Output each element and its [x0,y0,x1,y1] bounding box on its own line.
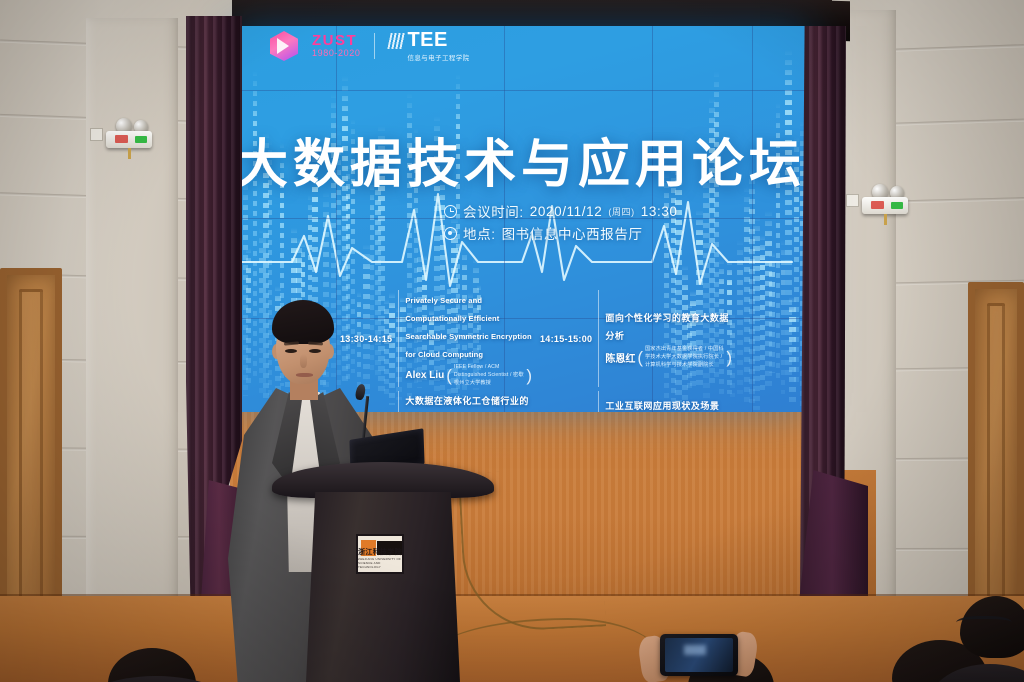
emergency-light-body [106,131,152,148]
zust-logo-icon [270,31,298,61]
slot-speaker-name: 陈恩红 [605,350,635,365]
tee-name: TEE [407,30,469,50]
wire [884,214,887,225]
paren-close: ) [526,369,532,383]
nose [300,354,307,368]
equalizer-bar [737,240,743,394]
slot-speaker-affiliation: 国家杰出青年基金获得者 / 中国科学技术大学大数据学院执行院长 / 计算机科学与… [645,346,724,369]
slot-time: 14:15-15:00 [540,334,592,344]
clock-icon [444,205,457,218]
equalizer-bar [769,252,775,373]
meeting-time-label: 会议时间: [463,201,524,221]
slot-speaker-row: 陈恩红 ( 国家杰出青年基金获得者 / 中国科学技术大学大数据学院执行院长 / … [605,346,732,369]
smartphone-recording[interactable] [660,634,738,676]
label-icon [115,135,128,143]
mouth [296,373,313,377]
slot-topic: 工业互联网应用现状及场景 [605,401,719,411]
light-switch-icon[interactable] [90,128,103,141]
meeting-weekday: (周四) [608,205,634,218]
tee-subtitle: 信息与电子工程学院 [407,52,469,62]
equalizer-bar [753,216,760,410]
zust-name: ZUST [312,33,360,49]
meeting-time-line: 会议时间: 2020/11/12 (周四) 13:30 [444,201,678,221]
slot-divider [398,391,399,412]
schedule-slot: 15:30-16:00 工业互联网应用现状及场景 颜明茂 ( 杭州海康威视数字技… [536,389,736,412]
tee-logo: TEE 信息与电子工程学院 [389,30,469,62]
meeting-date-value: 2020/11/12 [530,204,603,219]
paren-open: ( [637,351,643,365]
phone-viewfinder [665,638,733,672]
institution-name-cn: 浙江科技学院 [358,547,402,557]
podium-body [306,492,460,682]
led-wall-logos: ZUST 1980-2020 TEE 信息与电子工程学院 [270,30,470,62]
status-led-icon [135,136,147,143]
meeting-location-value: 图书信息中心西报告厅 [502,223,643,243]
slot-divider [398,290,399,387]
door-panel [19,289,43,639]
meeting-location-label: 地点: [463,223,496,243]
meeting-time-value: 13:30 [641,204,678,219]
logo-divider [374,33,375,59]
slot-divider [598,290,599,387]
status-led-icon [891,202,903,209]
zust-years: 1980-2020 [312,49,360,58]
podium-institution-sign: 浙江科技学院 ZHEJIANG UNIVERSITY OF SCIENCE AN… [356,534,404,574]
eye [285,349,297,353]
door-panel [987,303,1005,635]
podium: 浙江科技学院 ZHEJIANG UNIVERSITY OF SCIENCE AN… [272,462,494,682]
presenter-hair [272,300,334,344]
emergency-light-body [862,197,908,214]
schedule-slot: 14:15-15:00 面向个性化学习的教育大数据分析 陈恩红 ( 国家杰出青年… [536,288,736,389]
slot-topic: Privately Secure and Computationally Eff… [405,296,531,359]
conference-hall-photo: ZUST 1980-2020 TEE 信息与电子工程学院 大数据技术与应用论坛 … [0,0,1024,682]
paren-close: ) [726,351,732,365]
slot-divider [598,391,599,412]
eye [309,349,321,353]
wire [128,148,131,159]
label-icon [871,201,884,209]
slot-topic: 面向个性化学习的教育大数据分析 [605,313,729,341]
slot-speaker-affiliation: IEEE Fellow / ACM Distinguished Scientis… [454,364,524,387]
paren-open: ( [446,369,452,383]
location-pin-icon [444,227,457,240]
forum-title: 大数据技术与应用论坛 [232,122,810,197]
institution-name-en: ZHEJIANG UNIVERSITY OF SCIENCE AND TECHN… [358,557,402,569]
meeting-location-line: 地点: 图书信息中心西报告厅 [444,223,643,243]
session-schedule: 13:30-14:15 Privately Secure and Computa… [336,288,736,400]
slot-topic: 大数据在液体化工仓储行业的应用 [405,396,529,412]
eyeglasses-icon [956,616,1012,632]
slot-speaker-row: Alex Liu ( IEEE Fellow / ACM Distinguish… [405,364,532,387]
tee-grid-icon [388,33,406,49]
slot-speaker-name: Alex Liu [405,370,444,381]
light-switch-icon[interactable] [846,194,859,207]
